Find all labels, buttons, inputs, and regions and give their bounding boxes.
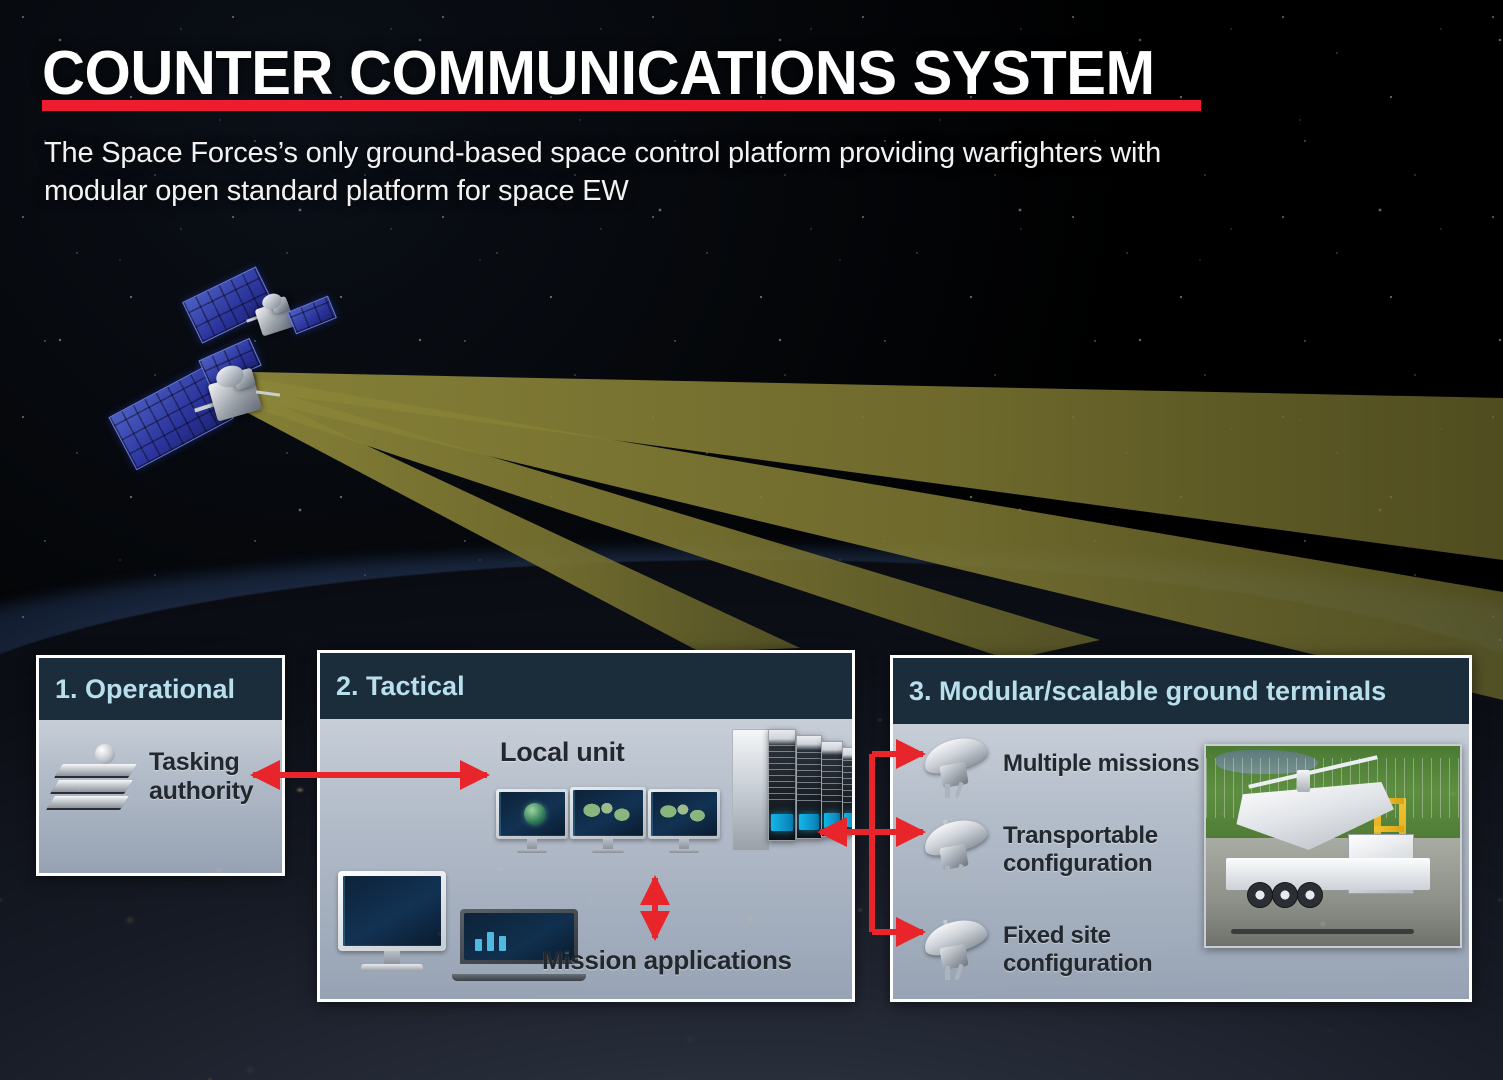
dish-leg <box>945 784 950 798</box>
counter-communications-system-infographic: COUNTER COMMUNICATIONS SYSTEM The Space … <box>0 0 1503 1080</box>
monitor-base <box>361 964 423 971</box>
rack-column <box>821 741 843 837</box>
panel-operational[interactable]: 1. Operational Tasking authority <box>36 655 285 876</box>
satellite-upper <box>186 276 336 356</box>
desktop-monitor-icon <box>338 871 446 951</box>
world-map-icon <box>656 798 711 830</box>
server-rack-icon <box>732 729 855 851</box>
globe-icon <box>524 803 546 825</box>
satellite-dish-icon <box>917 920 993 982</box>
transportable-configuration-label: Transportable configuration <box>1003 822 1158 878</box>
monitor-screen <box>573 790 643 836</box>
transportable-terminal-photo <box>1204 744 1462 948</box>
monitor-base <box>669 849 699 853</box>
chart-bar <box>499 936 506 951</box>
monitor-screen <box>343 876 441 946</box>
monitor-screen <box>651 792 717 836</box>
transportable-configuration-line2: configuration <box>1003 850 1158 878</box>
boom-icon <box>256 390 280 396</box>
rack-column <box>768 729 796 841</box>
panel-tactical-title: 2. Tactical <box>320 653 852 719</box>
satellite-dish-icon <box>917 738 993 800</box>
photo-wheel <box>1247 882 1273 908</box>
photo-safety-rail <box>1374 826 1404 832</box>
world-map-icon <box>579 796 638 829</box>
panel-operational-body: Tasking authority <box>39 720 282 873</box>
chart-bar <box>487 932 494 952</box>
dish-mount <box>939 844 968 870</box>
rack-column <box>842 747 855 835</box>
satellite-dish-icon <box>917 820 993 882</box>
page-title: COUNTER COMMUNICATIONS SYSTEM <box>42 38 1155 109</box>
photo-cable <box>1231 929 1414 934</box>
solar-panel-icon <box>287 296 337 335</box>
tasking-authority-label-line1: Tasking <box>149 748 253 777</box>
panel-operational-title: 1. Operational <box>39 658 282 720</box>
stack-plate-icon <box>55 764 136 776</box>
dish-mount <box>939 762 968 788</box>
mission-applications-label: Mission applications <box>542 945 792 975</box>
dish-mount <box>939 944 968 970</box>
stack-plate-icon <box>47 796 128 808</box>
multiple-missions-label: Multiple missions <box>1003 750 1199 778</box>
dish-leg <box>945 866 950 880</box>
fixed-site-configuration-line1: Fixed site <box>1003 922 1152 950</box>
page-subtitle: The Space Forces’s only ground-based spa… <box>44 135 1224 210</box>
tasking-authority-label: Tasking authority <box>149 748 253 806</box>
monitor-stand <box>384 951 400 965</box>
stack-knob-icon <box>95 744 115 764</box>
rack-column <box>796 735 822 839</box>
globe-icon <box>464 913 490 939</box>
fixed-site-configuration-label: Fixed site configuration <box>1003 922 1152 978</box>
transportable-configuration-line1: Transportable <box>1003 822 1158 850</box>
monitor-base <box>517 849 547 853</box>
fixed-site-configuration-line2: configuration <box>1003 950 1152 978</box>
panel-tactical-body: Local unit <box>320 719 852 999</box>
monitor-icon <box>570 787 646 839</box>
panel-ground-terminals-title: 3. Modular/scalable ground terminals <box>893 658 1469 724</box>
title-underline-rule <box>42 100 1201 111</box>
photo-feedhorn <box>1297 770 1310 792</box>
stack-plate-icon <box>51 780 132 792</box>
monitor-base <box>592 849 624 853</box>
photo-wheel <box>1272 882 1298 908</box>
monitor-screen <box>499 792 565 836</box>
panel-ground-terminals-body: Multiple missions Transportable configur… <box>893 724 1469 999</box>
monitor-icon <box>648 789 720 839</box>
tasking-authority-stack-icon <box>53 738 145 822</box>
panel-ground-terminals[interactable]: 3. Modular/scalable ground terminals Mul… <box>890 655 1472 1002</box>
satellite-lower <box>116 350 316 462</box>
dish-leg <box>945 966 950 980</box>
panel-tactical[interactable]: 2. Tactical Local unit <box>317 650 855 1002</box>
monitor-icon <box>496 789 568 839</box>
local-unit-label: Local unit <box>500 737 625 768</box>
chart-bar <box>475 939 482 951</box>
tasking-authority-label-line2: authority <box>149 777 253 806</box>
rack-front-panel <box>732 729 770 851</box>
